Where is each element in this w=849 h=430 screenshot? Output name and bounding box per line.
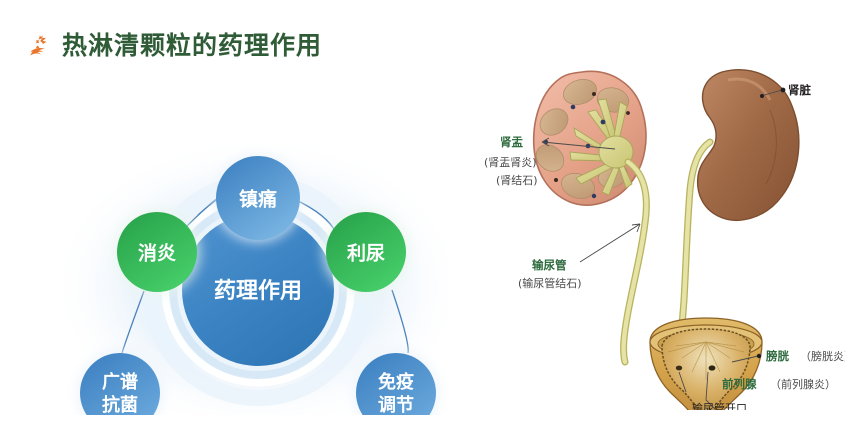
flower-sprig-icon — [28, 32, 54, 58]
label-pangguang: 膀胱 — [765, 349, 789, 363]
right-kidney-body — [698, 70, 799, 220]
node-zhentong-label: 镇痛 — [239, 188, 277, 211]
label-shuniaoguan-sub: (输尿管结石) — [518, 276, 582, 290]
label-qianliexian: 前列腺 — [722, 377, 757, 391]
node-guangpu-label-line2: 抗菌 — [102, 394, 138, 415]
label-pangguang-sub: （膀胱炎） — [800, 349, 845, 363]
node-guangpu-label-line1: 广谱 — [102, 371, 138, 393]
label-shenzang: 肾脏 — [788, 83, 811, 97]
label-shenyu-sub2: (肾结石) — [496, 174, 538, 187]
leader-dot-shenzang — [760, 94, 764, 98]
page-root: 热淋清颗粒的药理作用 — [0, 0, 849, 430]
page-title: 热淋清颗粒的药理作用 — [62, 33, 322, 58]
node-xiaoyan[interactable]: 消炎 — [114, 209, 200, 295]
node-xiaoyan-label: 消炎 — [138, 242, 176, 265]
pharmacological-action-diagram: 药理作用 镇痛 消炎 利尿 — [18, 75, 448, 415]
kidney-cross-section — [531, 71, 647, 362]
node-liniao[interactable]: 利尿 — [323, 209, 409, 295]
node-liniao-label: 利尿 — [347, 243, 385, 265]
label-shenyu-sub1: (肾盂肾炎) — [484, 156, 537, 169]
urinary-tract-anatomy: 肾脏 肾盂 (肾盂肾炎) (肾结石) 输尿管 (输尿管结石) 膀胱 （膀胱炎） … — [470, 50, 845, 410]
node-mianyi-label-line1: 免疫 — [378, 371, 414, 393]
label-shenyu: 肾盂 — [500, 135, 523, 149]
node-mianyi-label-line2: 调节 — [378, 395, 414, 415]
leader-dot-pangguang — [757, 354, 761, 358]
label-shuniaoguan: 输尿管 — [532, 258, 567, 272]
label-qianliexian-sub: （前列腺炎） — [770, 377, 836, 391]
center-node-label: 药理作用 — [214, 279, 302, 304]
label-shuniaoguan-kaikou: 输尿管开口 — [692, 401, 747, 410]
leader-dot-shenzang-end — [781, 88, 786, 93]
page-header: 热淋清颗粒的药理作用 — [28, 32, 322, 58]
node-zhentong[interactable]: 镇痛 — [214, 154, 302, 242]
